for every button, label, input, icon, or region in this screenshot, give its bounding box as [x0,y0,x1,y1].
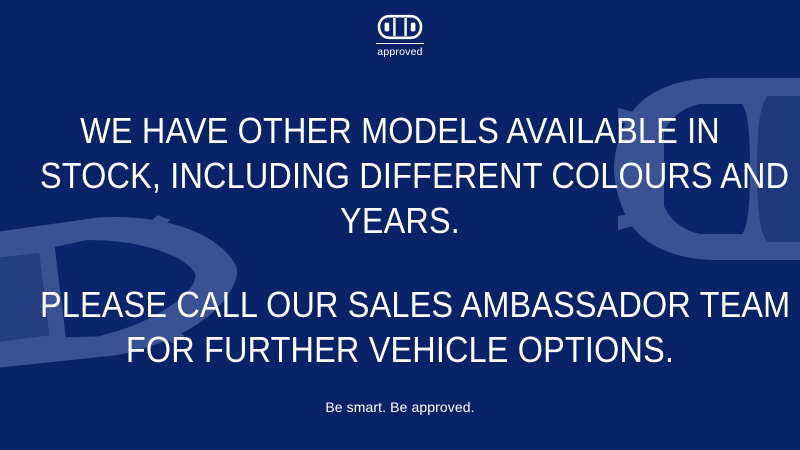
brand-divider [376,43,424,44]
headline-paragraph-2: Please call our sales ambassador team fo… [40,282,760,372]
headline-line: years. [40,198,760,243]
brand-tagline: Be smart. Be approved. [0,398,800,416]
headline-line: for further vehicle options. [40,327,760,372]
headline-line: Please call our sales ambassador team [40,282,760,327]
headline-block: We have other models available in stock,… [0,108,800,372]
headline-line: stock, including different colours and [40,153,760,198]
approved-car-icon [377,14,423,40]
brand-wordmark: approved [377,46,422,58]
headline-paragraph-1: We have other models available in stock,… [40,108,760,243]
brand-logo: approved [0,14,800,58]
headline-line: We have other models available in [40,108,760,153]
paragraph-spacer [0,243,800,282]
promo-slide: approved We have other models available … [0,0,800,450]
